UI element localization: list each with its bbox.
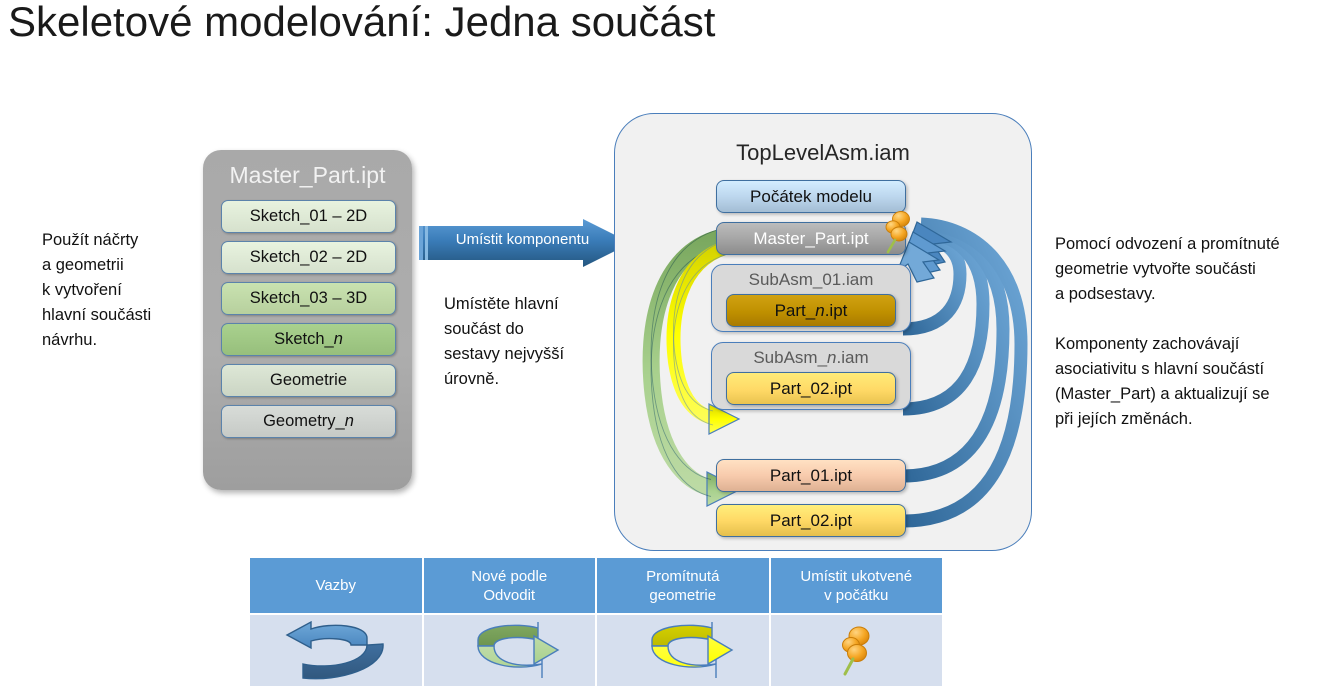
left-description-text: Použít náčrty a geometrii k vytvoření hl… bbox=[42, 228, 217, 353]
blue-curved-arrow-icon bbox=[281, 620, 391, 682]
pushpin-icon bbox=[831, 622, 881, 680]
legend-cell-nove-podle-odvodit bbox=[424, 615, 598, 686]
page-title: Skeletové modelování: Jedna součást bbox=[8, 0, 715, 46]
assembly-group-subasm-01-iam[interactable]: SubAsm_01.iamPart_n.ipt bbox=[711, 264, 911, 332]
master-part-row-sketch-n[interactable]: Sketch_n bbox=[221, 323, 396, 356]
legend-cell-umistit-ukotvene bbox=[771, 615, 943, 686]
legend-cell-vazby bbox=[250, 615, 424, 686]
assembly-node-part-01-ipt[interactable]: Part_01.ipt bbox=[716, 459, 906, 492]
legend-icon-row bbox=[250, 615, 942, 686]
green-curved-arrow-icon bbox=[454, 620, 564, 682]
legend-header-row: Vazby Nové podle Odvodit Promítnutá geom… bbox=[250, 558, 942, 613]
assembly-node-part-n-ipt[interactable]: Part_n.ipt bbox=[726, 294, 896, 327]
assembly-group-label: SubAsm_01.iam bbox=[712, 270, 910, 290]
legend-header-umistit-ukotvene: Umístit ukotvené v počátku bbox=[771, 558, 943, 613]
master-part-row-sketch-03-3d[interactable]: Sketch_03 – 3D bbox=[221, 282, 396, 315]
top-level-assembly-panel[interactable]: TopLevelAsm.iam bbox=[614, 113, 1032, 551]
assembly-group-subasm-n-iam[interactable]: SubAsm_n.iamPart_02.ipt bbox=[711, 342, 911, 410]
yellow-curved-arrow-icon bbox=[628, 620, 738, 682]
assembly-node-part-02-ipt[interactable]: Part_02.ipt bbox=[726, 372, 896, 405]
master-part-row-sketch-02-2d[interactable]: Sketch_02 – 2D bbox=[221, 241, 396, 274]
legend-header-promitnuta-geometrie: Promítnutá geometrie bbox=[597, 558, 771, 613]
legend-table: Vazby Nové podle Odvodit Promítnutá geom… bbox=[250, 558, 942, 686]
place-component-arrow bbox=[419, 219, 631, 267]
legend-header-nove-podle-odvodit: Nové podle Odvodit bbox=[424, 558, 598, 613]
assembly-node-po-tek-modelu[interactable]: Počátek modelu bbox=[716, 180, 906, 213]
assembly-node-part-02-ipt[interactable]: Part_02.ipt bbox=[716, 504, 906, 537]
pushpin-icon bbox=[879, 210, 915, 256]
assembly-group-label: SubAsm_n.iam bbox=[712, 348, 910, 368]
middle-description-text: Umístěte hlavní součást do sestavy nejvy… bbox=[444, 292, 624, 392]
master-part-row-geometry-n[interactable]: Geometry_n bbox=[221, 405, 396, 438]
legend-cell-promitnuta-geometrie bbox=[597, 615, 771, 686]
assembly-node-master-part-ipt[interactable]: Master_Part.ipt bbox=[716, 222, 906, 255]
master-part-row-sketch-01-2d[interactable]: Sketch_01 – 2D bbox=[221, 200, 396, 233]
master-part-panel-title: Master_Part.ipt bbox=[203, 162, 412, 189]
master-part-panel[interactable]: Master_Part.ipt Sketch_01 – 2DSketch_02 … bbox=[203, 150, 412, 490]
legend-header-vazby: Vazby bbox=[250, 558, 424, 613]
master-part-row-geometrie[interactable]: Geometrie bbox=[221, 364, 396, 397]
right-description-text: Pomocí odvození a promítnuté geometrie v… bbox=[1055, 232, 1327, 432]
